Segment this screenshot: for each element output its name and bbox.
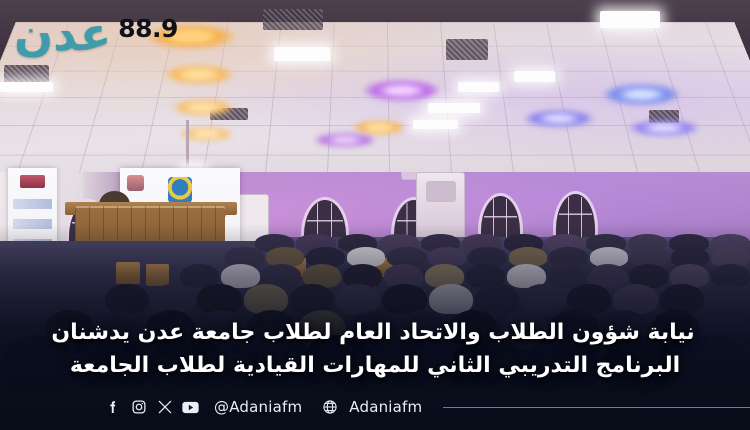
ceiling-lamp-warm (173, 99, 233, 116)
standee-text-row (13, 199, 52, 209)
ceiling-lamp-purple (364, 80, 439, 102)
youtube-icon[interactable] (182, 399, 199, 416)
ac-vent-grille (426, 181, 456, 203)
ceiling-lamp-purple (525, 110, 593, 127)
social-divider-rule (443, 407, 750, 408)
ceiling-light-panel (413, 120, 458, 129)
headline-line-2: البرنامج التدريبي الثاني للمهارات القياد… (4, 349, 746, 382)
headline: نيابة شؤون الطلاب والاتحاد العام لطلاب ج… (4, 316, 746, 382)
instagram-icon[interactable] (130, 399, 147, 416)
banner-logo (168, 177, 192, 203)
ceiling-lamp-warm (353, 120, 406, 135)
news-graphic-canvas: عدن 88.9 نيابة شؤون الطلاب والاتحاد العا… (0, 0, 750, 430)
banner-portrait (127, 175, 144, 191)
ceiling-lamp-purple (315, 133, 375, 147)
station-frequency: 88.9 (118, 16, 178, 42)
ceiling-light-panel (428, 103, 481, 112)
ceiling-light-panel (514, 71, 555, 82)
x-twitter-icon[interactable] (156, 399, 173, 416)
social-handle[interactable]: @Adaniafm (214, 398, 302, 416)
facebook-icon[interactable] (104, 399, 121, 416)
ceiling-light-panel (458, 82, 499, 92)
globe-icon[interactable] (321, 399, 338, 416)
ceiling-light-panel (0, 82, 53, 92)
website-label[interactable]: Adaniafm (349, 398, 422, 416)
standee-emblem (20, 175, 44, 188)
station-name-arabic: عدن (14, 8, 111, 60)
social-bar: @Adaniafm Adaniafm (0, 398, 750, 416)
ceiling-lamp-purple (604, 84, 679, 106)
ceiling-lamp-purple (630, 120, 698, 135)
headline-line-1: نيابة شؤون الطلاب والاتحاد العام لطلاب ج… (2, 316, 744, 349)
station-logo[interactable]: عدن 88.9 (14, 8, 178, 60)
